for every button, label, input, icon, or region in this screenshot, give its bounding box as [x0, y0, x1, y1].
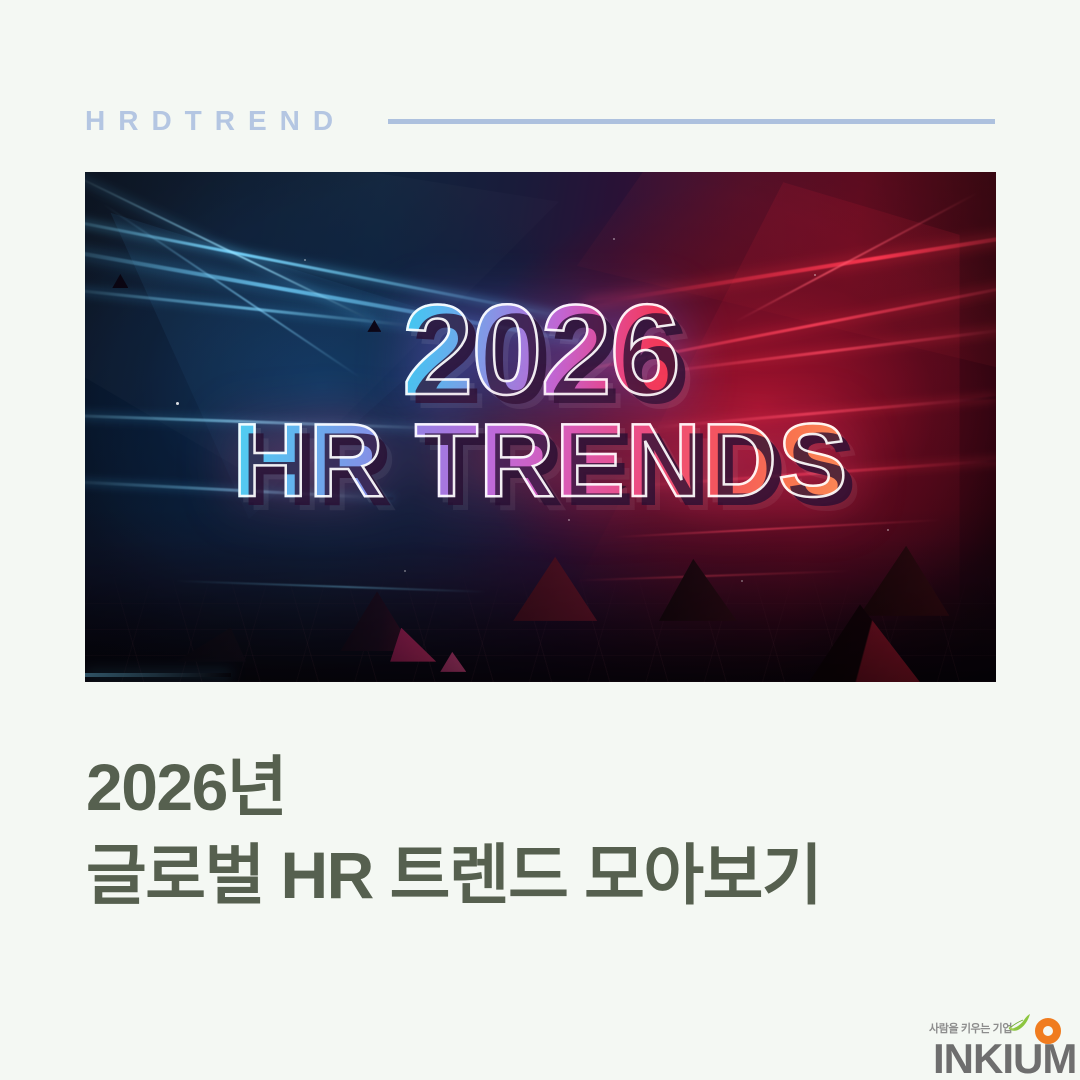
hero-text-extrude: HR TRENDS	[242, 423, 858, 519]
page-title-line-1: 2026년	[86, 744, 986, 832]
hero-text-extrude: 2026	[411, 301, 688, 419]
hero-year-text: 20262026	[402, 292, 679, 410]
page-title-line-2: 글로벌 HR 트렌드 모아보기	[86, 832, 986, 920]
section-label: HRDTREND	[85, 107, 346, 135]
hero-image: 20262026 HR TRENDSHR TRENDS	[85, 172, 996, 682]
leaf-icon	[1007, 1012, 1031, 1032]
logo-wordmark: INKIUM	[933, 1038, 1076, 1080]
page-title: 2026년 글로벌 HR 트렌드 모아보기	[86, 744, 986, 920]
section-header: HRDTREND	[85, 104, 996, 138]
brand-logo: 사람을 키우는 기업 INKIUM	[925, 1008, 1080, 1080]
hero-title-group: 20262026 HR TRENDSHR TRENDS	[85, 172, 996, 682]
hero-title-text: HR TRENDSHR TRENDS	[233, 414, 849, 510]
logo-tagline: 사람을 키우는 기업	[929, 1020, 1012, 1036]
header-divider	[388, 119, 995, 124]
